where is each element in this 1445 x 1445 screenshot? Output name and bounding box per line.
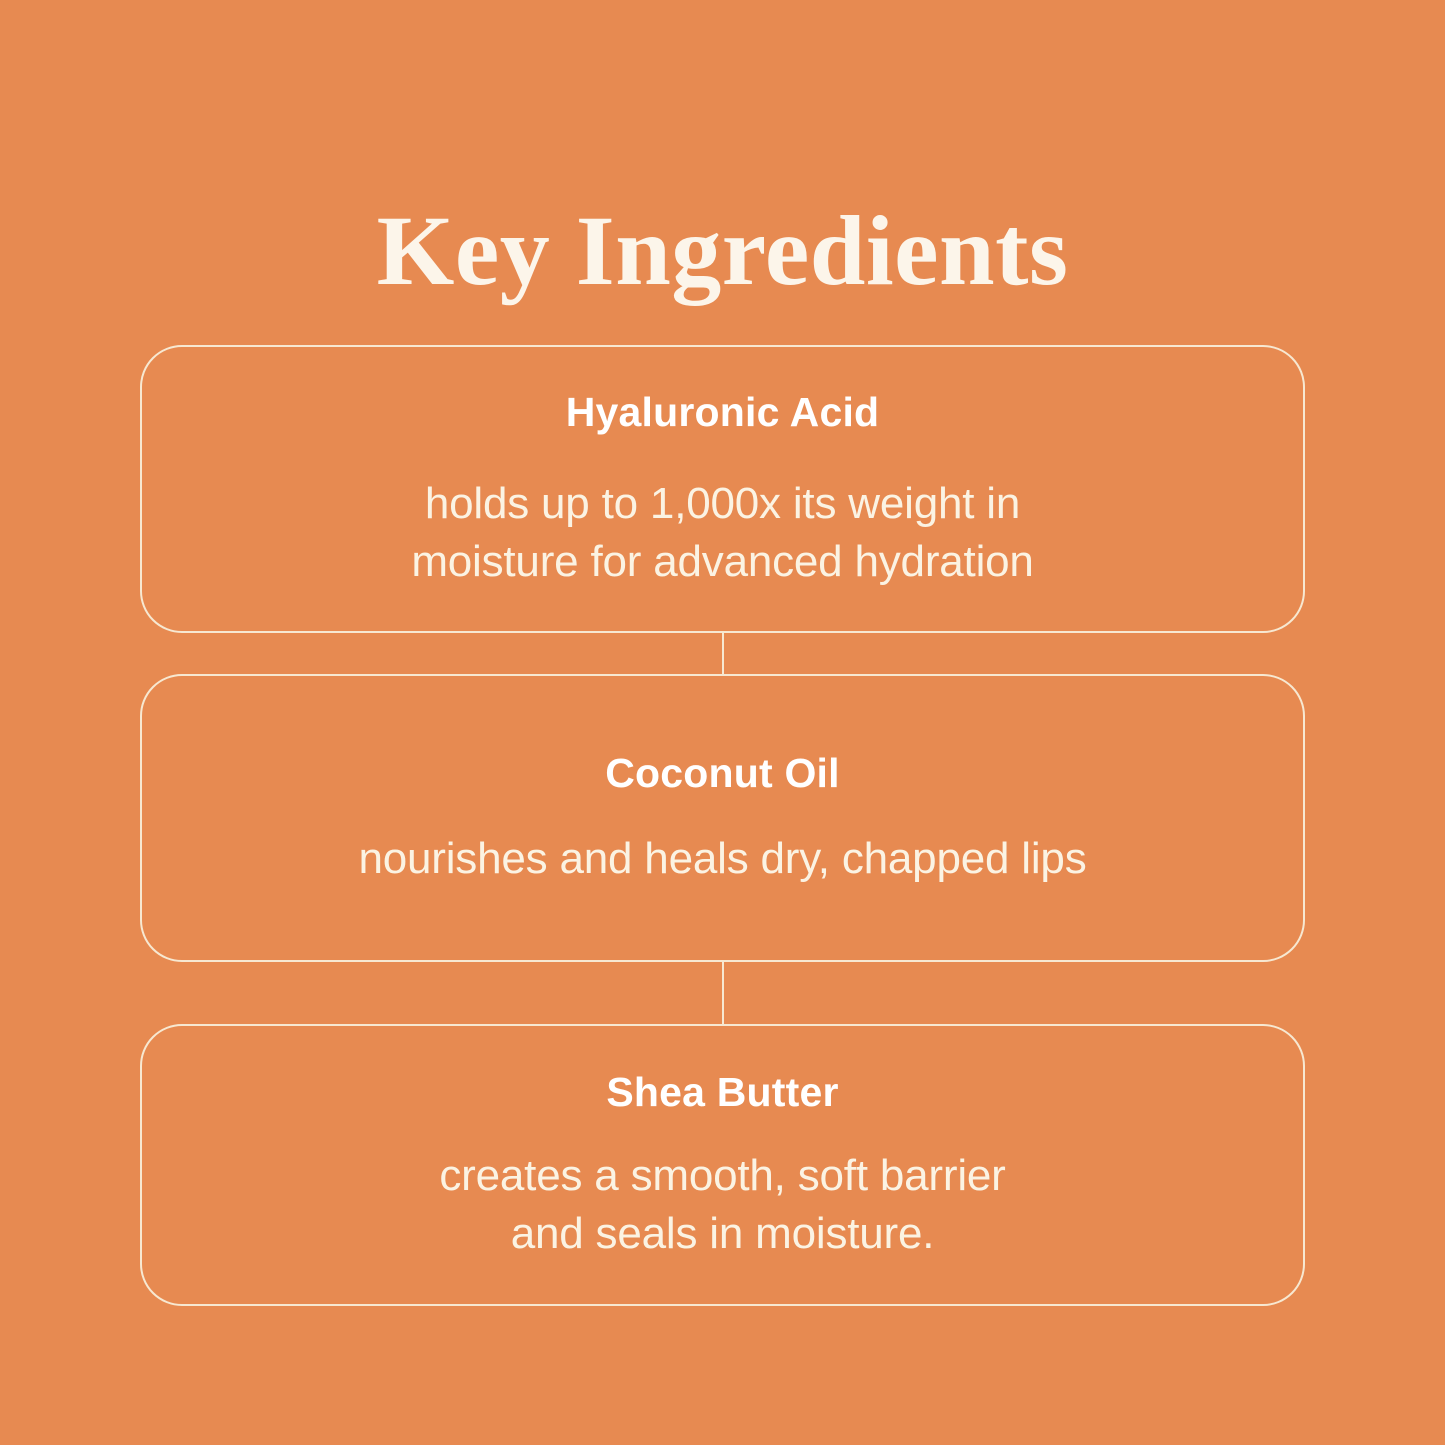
card-connector-2 [140, 962, 1305, 1024]
connector-line [722, 962, 724, 1024]
ingredient-description: creates a smooth, soft barrier and seals… [439, 1147, 1005, 1263]
ingredient-description: nourishes and heals dry, chapped lips [358, 830, 1086, 888]
connector-line [722, 633, 724, 674]
ingredient-title: Shea Butter [606, 1067, 838, 1117]
page-title: Key Ingredients [0, 195, 1445, 307]
ingredient-card-hyaluronic-acid: Hyaluronic Acid holds up to 1,000x its w… [140, 345, 1305, 633]
ingredients-infographic: Key Ingredients Hyaluronic Acid holds up… [0, 0, 1445, 1445]
ingredient-card-coconut-oil: Coconut Oil nourishes and heals dry, cha… [140, 674, 1305, 962]
ingredient-description: holds up to 1,000x its weight in moistur… [411, 475, 1033, 591]
card-connector-1 [140, 633, 1305, 674]
ingredient-title: Hyaluronic Acid [566, 387, 880, 437]
ingredient-card-shea-butter: Shea Butter creates a smooth, soft barri… [140, 1024, 1305, 1306]
ingredient-card-stack: Hyaluronic Acid holds up to 1,000x its w… [140, 345, 1305, 1306]
ingredient-title: Coconut Oil [605, 748, 840, 798]
